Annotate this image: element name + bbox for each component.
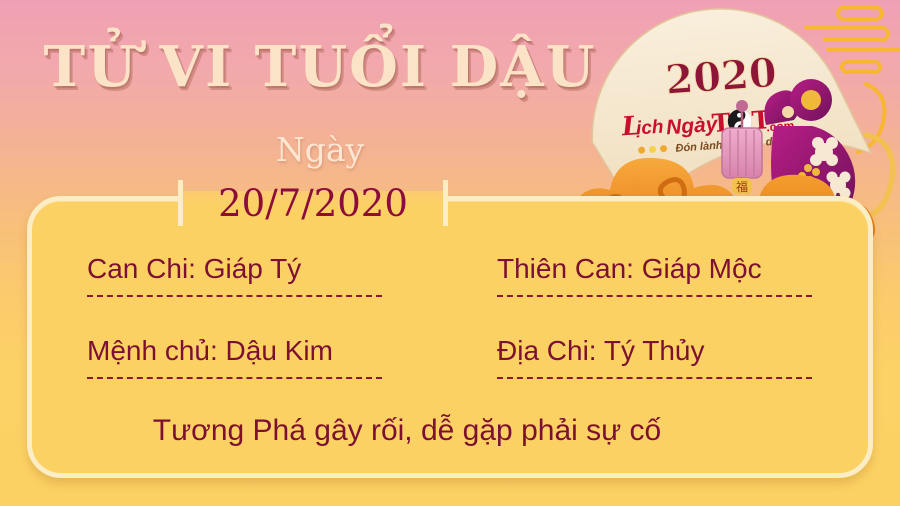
svg-text:Ngày: Ngày — [665, 113, 719, 140]
horoscope-poster: 2020 L ịch Ngày T T .com Đón lành - Trán… — [0, 0, 900, 506]
info-item-thien-can: Thiên Can: Giáp Mộc — [497, 254, 812, 297]
page-title: TỬ VI TUỔI DẬU — [0, 34, 640, 100]
info-item-dia-chi: Địa Chi: Tý Thủy — [497, 336, 812, 379]
logo-tagline: Đón lành - Tránh dữ — [675, 135, 782, 154]
rat-flowers — [810, 137, 851, 199]
info-item-can-chi: Can Chi: Giáp Tý — [87, 254, 382, 297]
info-item-label: Mệnh chủ: Dậu Kim — [87, 336, 382, 367]
svg-text:.com: .com — [766, 118, 795, 134]
info-item-label: Địa Chi: Tý Thủy — [497, 336, 812, 367]
svg-text:福: 福 — [736, 179, 748, 194]
site-logo[interactable]: L ịch Ngày T T .com Đón lành - Tránh dữ — [620, 100, 796, 158]
info-item-menh-chu: Mệnh chủ: Dậu Kim — [87, 336, 382, 379]
info-item-divider — [87, 295, 382, 297]
svg-text:T: T — [751, 105, 772, 135]
date-value: 20/7/2020 — [178, 182, 448, 225]
svg-text:T: T — [711, 108, 732, 138]
gold-swirl-lines — [806, 8, 900, 152]
rat-coin-bracelet — [798, 164, 820, 184]
year-label: 2020 — [664, 49, 778, 104]
info-item-divider — [87, 377, 382, 379]
info-item-divider — [497, 295, 812, 297]
summary-text: Tương Phá gây rối, dễ gặp phải sự cố — [27, 414, 787, 448]
lantern-icon: 福 — [722, 100, 762, 194]
info-item-label: Can Chi: Giáp Tý — [87, 254, 382, 285]
info-item-divider — [497, 377, 812, 379]
yin-yang-icon — [727, 108, 753, 134]
day-label: Ngày — [0, 130, 640, 169]
info-item-label: Thiên Can: Giáp Mộc — [497, 254, 812, 285]
info-grid: Can Chi: Giáp Tý Thiên Can: Giáp Mộc Mện… — [27, 210, 873, 410]
